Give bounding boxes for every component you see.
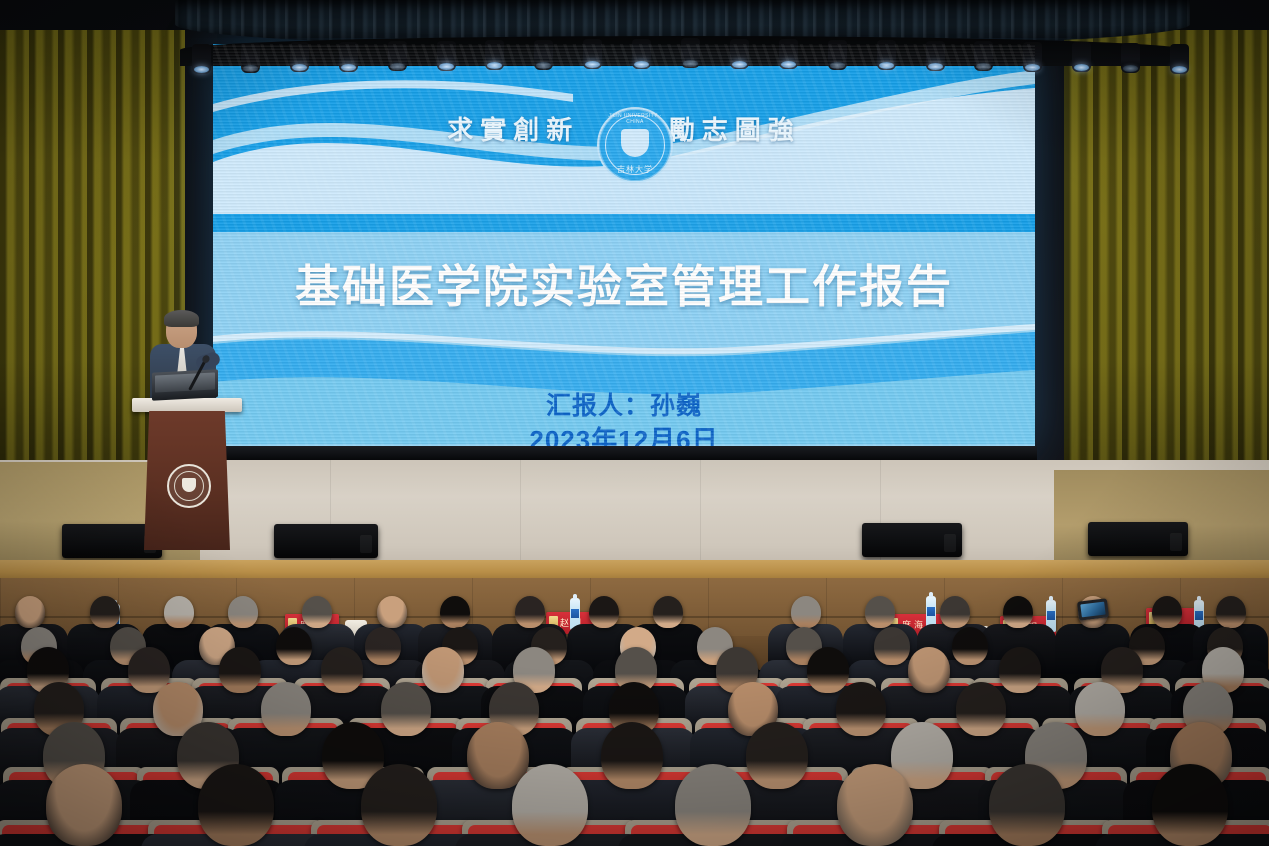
stage-light [583, 39, 602, 69]
stage-light [534, 40, 553, 70]
stage-light [877, 40, 896, 70]
audience-head [515, 596, 545, 628]
audience-head [1216, 596, 1246, 628]
audience-head [836, 682, 886, 736]
stage-light [828, 40, 847, 70]
audience-phone-camera [1077, 598, 1109, 621]
stage-monitor-4 [1088, 522, 1188, 556]
audience-head [999, 647, 1041, 692]
stage-curtain-right [1064, 30, 1269, 500]
audience-head [365, 627, 401, 666]
audience-head [791, 596, 821, 628]
audience-head [90, 596, 120, 628]
audience-head [228, 596, 258, 628]
podium-seal-icon [167, 464, 211, 508]
audience-head [302, 596, 332, 628]
stage-light [632, 39, 651, 69]
stage-light [290, 42, 309, 72]
audience-head [746, 722, 808, 789]
audience-head [321, 647, 363, 692]
seal-bottom-text: 吉林大学 [599, 164, 671, 175]
audience-head [422, 647, 464, 692]
stage-light [974, 41, 993, 71]
stage-light [1170, 44, 1189, 74]
stage-light [437, 41, 456, 71]
audience-head [940, 596, 970, 628]
audience-head [15, 596, 45, 628]
audience-head [908, 647, 950, 692]
audience-head [865, 596, 895, 628]
audience-head [261, 682, 311, 736]
audience-head [1152, 596, 1182, 628]
audience-head [512, 764, 588, 846]
stage-light [388, 41, 407, 71]
stage-light [339, 42, 358, 72]
audience-head [381, 682, 431, 736]
audience-head [989, 764, 1065, 846]
slide-header-left-motto: 求實創新 [279, 110, 617, 147]
audience-head [1152, 764, 1228, 846]
slide-presenter: 汇报人：孙巍 [213, 389, 1035, 423]
audience-head [440, 596, 470, 628]
audience-head [653, 596, 683, 628]
audience-head [601, 722, 663, 789]
auditorium-photo: 求實創新 勵志圖強 JILIN UNIVERSITY · CHINA 吉林大学 … [0, 0, 1269, 846]
stage-light [681, 38, 700, 68]
audience-head [952, 627, 988, 666]
audience-head [377, 596, 407, 628]
stage-light [730, 39, 749, 69]
audience-head [807, 647, 849, 692]
stage-light [1072, 42, 1091, 72]
stage-light [192, 44, 211, 74]
audience-head [361, 764, 437, 846]
stage-light [1121, 43, 1140, 73]
audience-head [589, 596, 619, 628]
audience-head [219, 647, 261, 692]
audience-head [164, 596, 194, 628]
stage-light [241, 43, 260, 73]
audience-head [874, 627, 910, 666]
audience-head [956, 682, 1006, 736]
seal-top-text: JILIN UNIVERSITY · CHINA [599, 113, 671, 125]
podium-laptop [152, 369, 218, 400]
stage-light [779, 39, 798, 69]
led-presentation-screen: 求實創新 勵志圖強 JILIN UNIVERSITY · CHINA 吉林大学 … [213, 44, 1035, 452]
screen-bottom-bezel [211, 446, 1037, 460]
audience-head [1075, 682, 1125, 736]
stage-light [1023, 42, 1042, 72]
slide-title: 基础医学院实验室管理工作报告 [213, 250, 1035, 315]
audience-head [837, 764, 913, 846]
speaker-podium [141, 398, 233, 550]
audience-head [46, 764, 122, 846]
audience-head [198, 764, 274, 846]
stage-monitor-2 [274, 524, 378, 558]
slide-header-right-motto: 勵志圖強 [631, 110, 969, 147]
university-seal-icon: JILIN UNIVERSITY · CHINA 吉林大学 [597, 107, 673, 183]
stage-monitor-3 [862, 523, 962, 557]
audience-head [276, 627, 312, 666]
audience-head [1003, 596, 1033, 628]
stage-light [926, 41, 945, 71]
slide-byline: 汇报人：孙巍 2023年12月6日 [213, 389, 1035, 452]
audience-head [675, 764, 751, 846]
stage-light [485, 40, 504, 70]
